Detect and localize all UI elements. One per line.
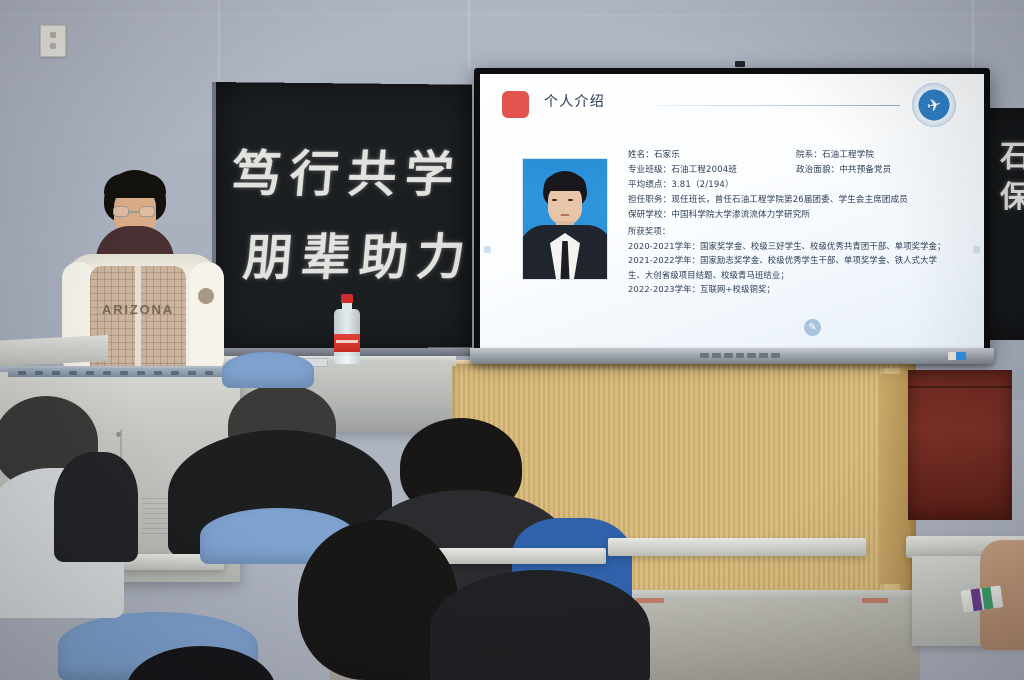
audience-body [430,570,650,680]
slide-divider [657,105,900,106]
chair-back[interactable] [222,352,314,388]
gpa-line: 平均绩点：3.81（2/194） [628,178,970,193]
name-value: 石家乐 [654,150,680,160]
pen-icon[interactable]: ✎ [804,319,821,336]
wall-seam [468,0,470,70]
water-bottle [334,294,360,364]
dept-value: 石油工程学院 [822,150,874,160]
id-photo [522,158,608,280]
chalk-right-text: 石保 [989,140,1024,221]
wall-seam [218,0,220,82]
row-desk [608,538,866,556]
floor-mark [636,598,664,603]
wood-cabinet [908,370,1012,520]
name-label: 姓名： [628,150,654,160]
display-camera-icon [735,61,745,67]
university-logo-icon: ✈ [912,83,956,127]
cabinet-seam [908,386,1012,388]
info-row: 专业班级：石油工程2004班 政治面貌：中共预备党员 [628,163,970,178]
graduate-school-line: 保研学校：中国科学院大学渗流流体力学研究所 [628,208,970,223]
jacket-patch-icon [198,288,214,304]
slide-body: 姓名：石家乐 院系：石油工程学院 专业班级：石油工程2004班 政治面貌：中共预… [628,148,970,297]
political-value: 中共预备党员 [839,165,891,175]
lectern-lock-icon[interactable] [116,432,121,437]
award-line: 生、大创省级项目结题、校级青马班结业； [628,268,970,283]
eyeglasses-icon [113,206,129,217]
dept-label: 院系： [796,150,822,160]
award-line: 2020-2021学年：国家奖学金、校级三好学生、校级优秀共青团干部、单项奖学金… [628,239,970,254]
awards-header: 所获奖项： [628,224,970,239]
slide-badge-icon [502,91,529,118]
presentation-slide: 个人介绍 ✈ 姓名：石家乐 院系：石油工程学院 [480,74,984,350]
slide-handle-left [484,246,491,253]
slide-header: 个人介绍 ✈ [502,89,964,123]
jacket-text: ARIZONA [90,302,186,317]
info-row: 姓名：石家乐 院系：石油工程学院 [628,148,970,163]
award-line: 2021-2022学年：国家励志奖学金、校级优秀学生干部、单项奖学金、铁人式大学 [628,253,970,268]
lectern-control-rack[interactable] [8,368,230,377]
interactive-display[interactable]: 个人介绍 ✈ 姓名：石家乐 院系：石油工程学院 [474,68,990,356]
audience-shoulder [54,452,138,562]
classroom-photo-scene: 笃行共学 朋辈助力 石保 个人介绍 ✈ [0,0,1024,680]
slide-title: 个人介绍 [544,91,605,111]
display-control-buttons[interactable] [700,353,780,358]
floor-mark [862,598,888,603]
political-label: 政治面貌： [796,165,839,175]
display-power-led-icon [948,352,966,360]
chalk-line-2: 朋辈助力 [241,218,477,290]
awards-block: 所获奖项： 2020-2021学年：国家奖学金、校级三好学生、校级优秀共青团干部… [628,224,970,297]
chalk-line-1: 笃行共学 [229,134,466,206]
wall-outlet-icon [40,25,66,57]
class-value: 石油工程2004班 [671,165,737,175]
slide-handle-right [973,246,980,253]
eyeglasses-icon [139,206,155,217]
award-line: 2022-2023学年：互联网+校级铜奖； [628,282,970,297]
class-label: 专业班级： [628,165,671,175]
duty-line: 担任职务：现任班长，曾任石油工程学院第26届团委、学生会主席团成员 [628,193,970,208]
wall-seam [0,14,1024,16]
